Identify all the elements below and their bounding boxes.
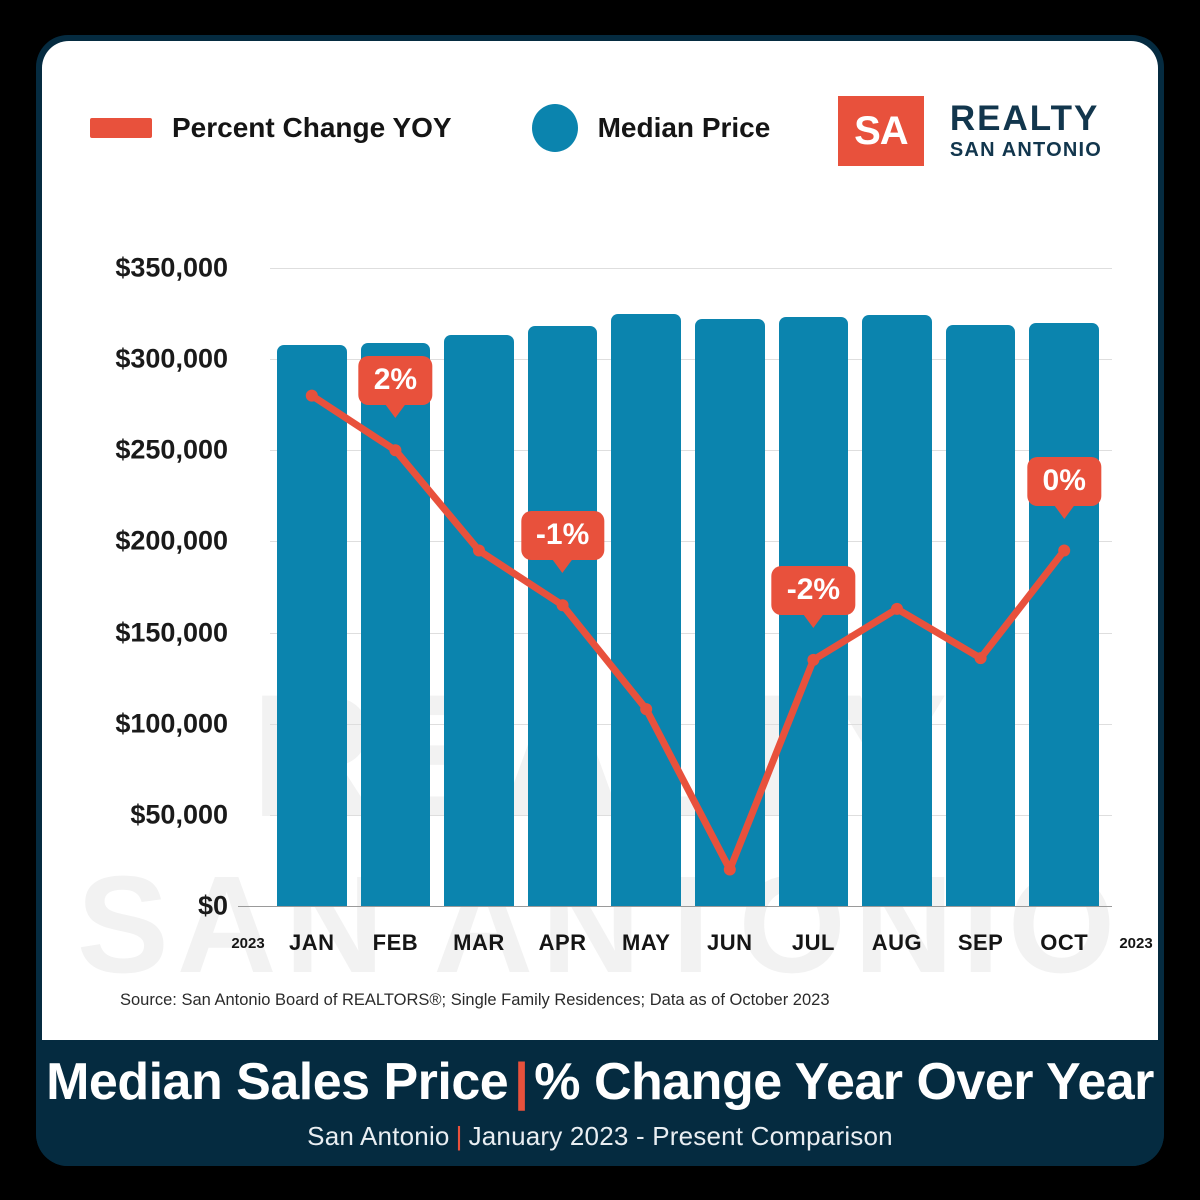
footer-banner: Median Sales Price|% Change Year Over Ye…	[36, 1040, 1164, 1166]
line-point-may[interactable]	[640, 703, 652, 715]
footer-subtitle-left: San Antonio	[307, 1121, 449, 1151]
footer-title-right: % Change Year Over Year	[534, 1053, 1154, 1111]
brand-logo: SA REALTY SAN ANTONIO	[838, 96, 1102, 166]
callout-jul: -2%	[772, 566, 855, 615]
legend-label-percent-change: Percent Change YOY	[172, 112, 452, 144]
callout-oct: 0%	[1028, 457, 1101, 506]
footer-title: Median Sales Price|% Change Year Over Ye…	[46, 1054, 1154, 1111]
line-point-mar[interactable]	[473, 545, 485, 557]
chart-plot-area: $350,000$300,000$250,000$200,000$150,000…	[42, 41, 1158, 1040]
footer-subtitle-right: January 2023 - Present Comparison	[469, 1121, 893, 1151]
chart-panel: REALTY SAN ANTONIO Percent Change YOY Me…	[42, 41, 1158, 1040]
callout-apr: -1%	[521, 511, 604, 560]
x-axis-tick-jan: JAN	[270, 930, 354, 956]
x-axis-tick-aug: AUG	[855, 930, 939, 956]
legend-label-median-price: Median Price	[598, 112, 771, 144]
x-axis-left-year: 2023	[220, 935, 276, 952]
x-axis-right-year: 2023	[1108, 935, 1158, 952]
footer-title-left: Median Sales Price	[46, 1053, 508, 1111]
circle-swatch-icon	[532, 104, 578, 152]
x-axis-tick-jun: JUN	[688, 930, 772, 956]
infographic-card: REALTY SAN ANTONIO Percent Change YOY Me…	[36, 35, 1164, 1166]
line-swatch-icon	[90, 118, 152, 138]
line-point-apr[interactable]	[557, 599, 569, 611]
x-axis-tick-apr: APR	[521, 930, 605, 956]
line-point-jan[interactable]	[306, 390, 318, 402]
sa-monogram-icon: SA	[838, 96, 924, 166]
footer-subtitle: San Antonio|January 2023 - Present Compa…	[307, 1121, 893, 1152]
footer-subtitle-separator: |	[456, 1121, 463, 1151]
x-axis-tick-mar: MAR	[437, 930, 521, 956]
brand-city: SAN ANTONIO	[950, 139, 1102, 161]
line-point-jul[interactable]	[807, 654, 819, 666]
percent-change-line	[312, 396, 1064, 870]
brand-wordmark: REALTY SAN ANTONIO	[950, 101, 1102, 162]
brand-mark-text: SA	[854, 109, 908, 154]
chart-legend: Percent Change YOY Median Price	[90, 104, 770, 152]
x-axis-tick-jul: JUL	[772, 930, 856, 956]
line-point-sep[interactable]	[975, 652, 987, 664]
x-axis-tick-feb: FEB	[354, 930, 438, 956]
line-point-aug[interactable]	[891, 603, 903, 615]
legend-item-percent-change: Percent Change YOY	[90, 112, 452, 144]
brand-name: REALTY	[950, 101, 1102, 138]
line-point-feb[interactable]	[389, 444, 401, 456]
x-axis-tick-oct: OCT	[1022, 930, 1106, 956]
x-axis-tick-sep: SEP	[939, 930, 1023, 956]
callout-feb: 2%	[359, 356, 432, 405]
legend-item-median-price: Median Price	[484, 104, 771, 152]
source-note: Source: San Antonio Board of REALTORS®; …	[120, 991, 830, 1010]
footer-title-separator: |	[514, 1053, 528, 1111]
line-point-oct[interactable]	[1058, 545, 1070, 557]
line-point-jun[interactable]	[724, 864, 736, 876]
x-axis-tick-may: MAY	[604, 930, 688, 956]
